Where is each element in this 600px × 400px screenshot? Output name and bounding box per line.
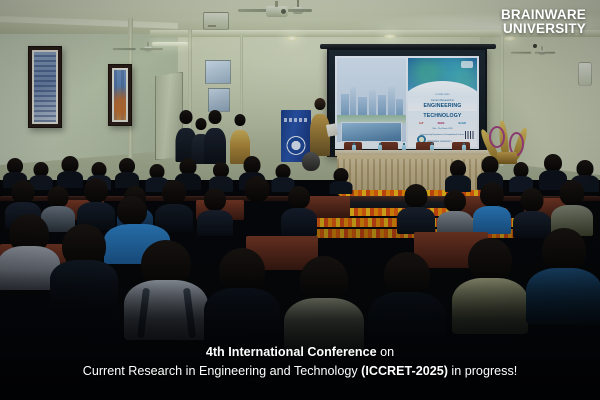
wall-unit-icon — [578, 62, 592, 86]
slide-barcode — [465, 131, 475, 139]
speaker-papers — [326, 123, 338, 137]
brand-logo: BRAINWARE UNIVERSITY — [501, 8, 586, 36]
caption-line-2: Current Research in Engineering and Tech… — [0, 362, 600, 382]
ceiling-downlight — [286, 36, 298, 41]
audience-person — [454, 238, 526, 334]
slide-title-panel: ICCRET-2025 Current Research in ENGINEER… — [408, 58, 477, 147]
tube-light — [152, 42, 188, 46]
sponsor-logo: ICAR — [458, 121, 465, 125]
audience-person — [238, 176, 276, 232]
projection-screen: ICCRET-2025 Current Research in ENGINEER… — [327, 48, 487, 157]
audience-person — [330, 168, 352, 194]
framed-poster — [108, 64, 132, 126]
slide-photo — [341, 122, 402, 142]
caption-line-2-post: in progress! — [448, 364, 517, 378]
slide-superscript: ICCRET-2025 — [412, 94, 473, 96]
audience-person-with-backpack — [126, 240, 206, 340]
slide-subtitle: Current Research in — [412, 99, 473, 102]
caption-line-1-rest: on — [377, 345, 395, 359]
ceiling-downlight — [504, 36, 516, 41]
brand-line-1: BRAINWARE — [501, 7, 586, 22]
audience-person — [438, 190, 472, 238]
caption-text: 4th International Conference on Current … — [0, 343, 600, 382]
audience-person — [474, 182, 510, 234]
projector-icon — [266, 6, 288, 17]
brand-line-2: UNIVERSITY — [501, 22, 586, 36]
slide-title-line1: ENGINEERING — [412, 104, 473, 109]
framed-poster — [28, 46, 62, 128]
slide-corner-tag — [461, 61, 473, 68]
sponsor-logo: IEEE — [438, 121, 445, 125]
ceiling-downlight — [384, 34, 396, 39]
audience-person — [286, 256, 362, 356]
decor-ring — [489, 126, 505, 148]
audience-person — [298, 152, 324, 190]
audience-person — [198, 188, 232, 236]
audience-person — [528, 228, 600, 324]
slide-illustration — [337, 58, 406, 147]
caption-line-1: 4th International Conference on — [0, 343, 600, 363]
slide-sponsor-logos: IoT IEEE ICAR — [412, 121, 473, 125]
room-scene: ICCRET-2025 Current Research in ENGINEER… — [0, 0, 600, 400]
audience-person — [370, 252, 444, 350]
wall-window — [208, 88, 230, 112]
audience-person — [116, 158, 138, 188]
sponsor-logo: IoT — [419, 121, 424, 125]
slide-title-line2: TECHNOLOGY — [412, 113, 473, 119]
caption-line-2-pre: Current Research in Engineering and Tech… — [83, 364, 361, 378]
wall-window — [205, 60, 231, 84]
caption-conference-code: (ICCRET-2025) — [361, 364, 448, 378]
audience-person — [282, 186, 316, 236]
audience-person — [446, 160, 470, 192]
conference-photo: ICCRET-2025 Current Research in ENGINEER… — [0, 0, 600, 400]
audience-person — [398, 184, 434, 234]
standing-person — [204, 110, 225, 164]
slide-date: 20th - 21st March 2025 — [412, 128, 473, 130]
audience-person — [206, 248, 278, 344]
caption-line-1-bold: 4th International Conference — [206, 345, 377, 359]
audience-person — [52, 224, 116, 308]
wall-fixture-dot — [533, 44, 537, 48]
wall-speaker-icon — [203, 12, 229, 30]
